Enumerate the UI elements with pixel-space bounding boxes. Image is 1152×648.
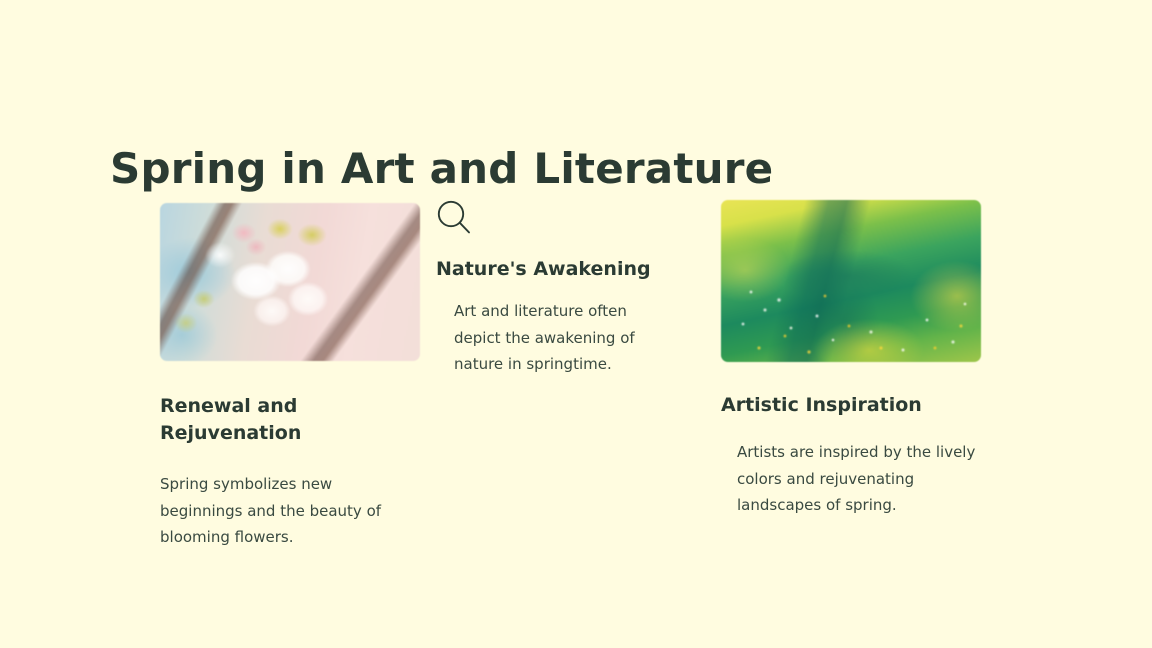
content-column-artistic-inspiration: Artistic Inspiration Artists are inspire… (721, 200, 993, 519)
slide: Spring in Art and Literature Renewal and… (0, 0, 1152, 648)
column-body-renewal: Spring symbolizes new beginnings and the… (160, 471, 400, 551)
column-body-natures-awakening: Art and literature often depict the awak… (454, 298, 672, 378)
column-body-artistic-inspiration: Artists are inspired by the lively color… (737, 439, 985, 519)
column-title-natures-awakening: Nature's Awakening (436, 256, 686, 283)
page-title: Spring in Art and Literature (110, 146, 773, 192)
column-title-renewal: Renewal and Rejuvenation (160, 393, 360, 447)
meadow-painting-image (721, 200, 981, 362)
search-icon (436, 198, 474, 238)
cherry-blossom-image (160, 203, 420, 361)
column-title-artistic-inspiration: Artistic Inspiration (721, 392, 971, 419)
content-column-renewal: Renewal and Rejuvenation Spring symboliz… (160, 203, 422, 551)
content-column-natures-awakening: Nature's Awakening Art and literature of… (436, 198, 686, 378)
